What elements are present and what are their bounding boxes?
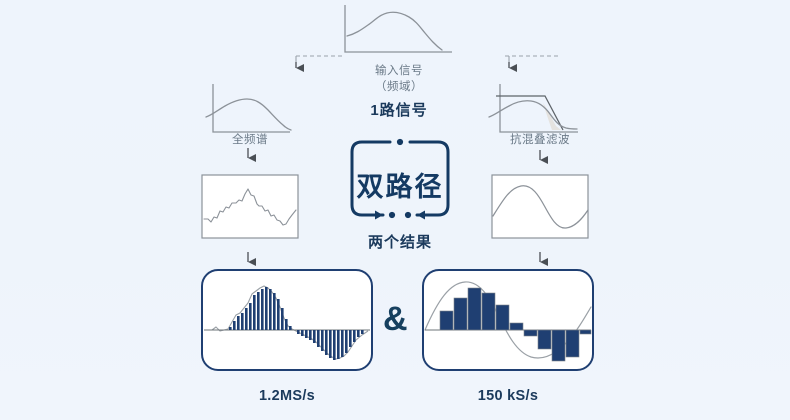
diagram-canvas: 输入信号 （频域） 1路信号 全频谱 抗混叠滤波 双路径 两个结果 & 1.2M… bbox=[0, 0, 790, 420]
right-result-rate-label: 150 kS/s bbox=[428, 388, 588, 404]
chart-input-spectrum bbox=[345, 5, 452, 52]
full-spectrum-caption: 全频谱 bbox=[205, 131, 295, 147]
chart-left-result-bars bbox=[202, 270, 372, 370]
input-signal-caption-line1: 输入信号 bbox=[349, 62, 449, 78]
chart-full-spectrum bbox=[206, 84, 291, 132]
badge-dot-right bbox=[405, 212, 411, 218]
dual-path-badge-caption: 两个结果 bbox=[350, 231, 450, 252]
chart-clean-sine-waveform bbox=[492, 175, 588, 238]
dual-path-badge-label: 双路径 bbox=[350, 165, 450, 204]
chart-noisy-time-waveform bbox=[202, 175, 298, 238]
badge-dot-left bbox=[389, 212, 395, 218]
ampersand-connector: & bbox=[383, 300, 408, 339]
badge-top-dot bbox=[397, 139, 403, 145]
antialias-filter-caption: 抗混叠滤波 bbox=[490, 131, 590, 147]
left-result-rate-label: 1.2MS/s bbox=[207, 388, 367, 404]
chart-right-result-bars bbox=[423, 270, 593, 370]
input-signal-caption-line2: （频域） bbox=[349, 78, 449, 94]
input-signal-emphasis: 1路信号 bbox=[349, 99, 449, 120]
chart-antialias-filter bbox=[489, 84, 578, 132]
